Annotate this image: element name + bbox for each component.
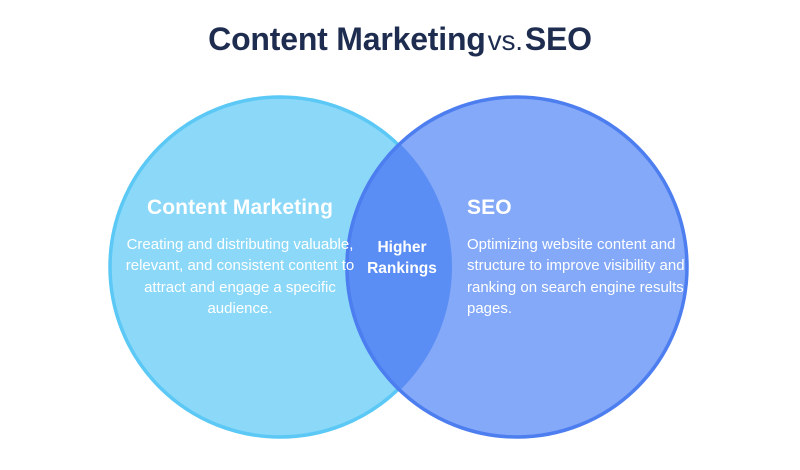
content-marketing-heading: Content Marketing [112, 196, 368, 220]
seo-heading: SEO [467, 196, 691, 220]
overlap-label: Higher Rankings [352, 238, 452, 280]
seo-text-block: SEO Optimizing website content and struc… [467, 196, 691, 319]
seo-description: Optimizing website content and structure… [467, 220, 691, 319]
content-marketing-description: Creating and distributing valuable, rele… [112, 220, 368, 319]
overlap-text-block: Higher Rankings [352, 238, 452, 280]
venn-diagram-canvas: Content Marketingvs.SEO Content Marketin… [0, 0, 800, 470]
content-marketing-text-block: Content Marketing Creating and distribut… [112, 196, 368, 319]
